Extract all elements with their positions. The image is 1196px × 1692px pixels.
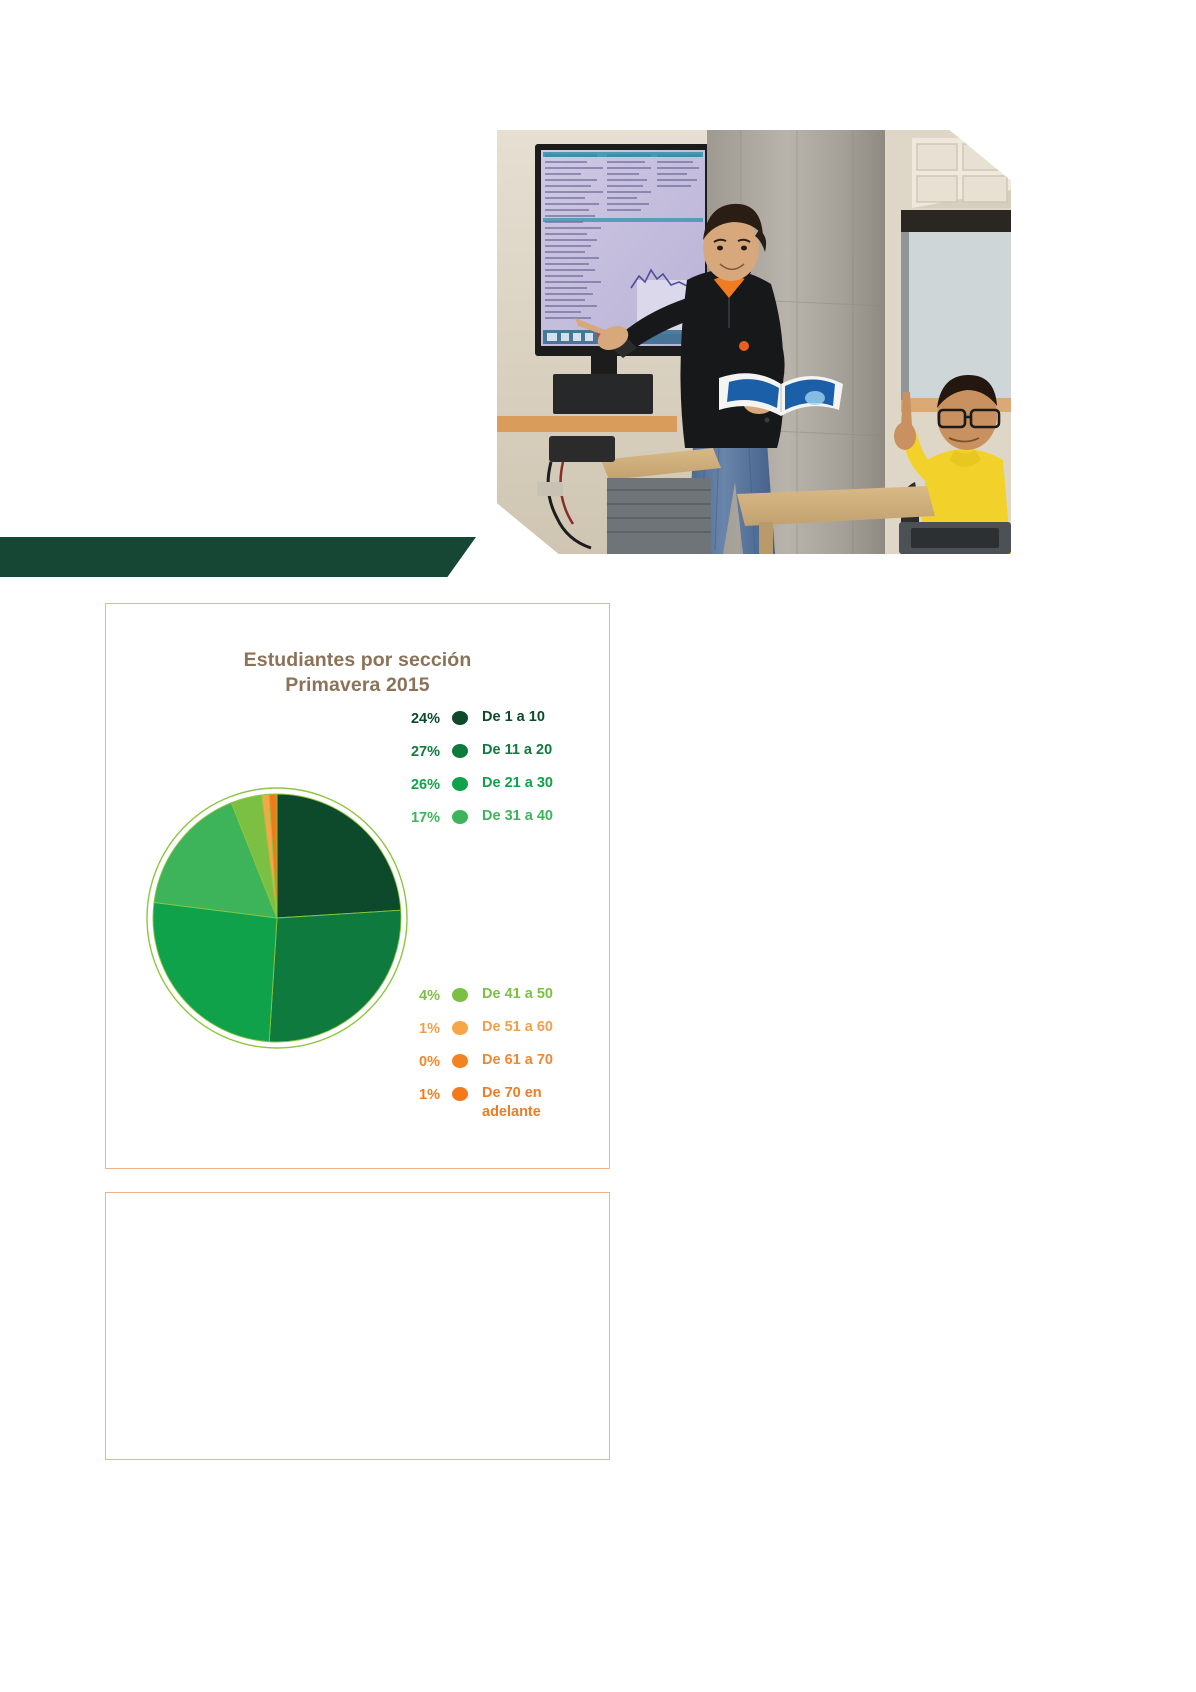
legend-percent: 1% (392, 1084, 440, 1105)
legend-percent: 24% (392, 708, 440, 729)
legend-label: De 41 a 50 (482, 985, 553, 1004)
chart-title-line1: Estudiantes por sección (106, 648, 609, 673)
legend-item[interactable]: 0% De 61 a 70 (392, 1051, 592, 1084)
legend-color-dot (452, 1054, 468, 1068)
legend-percent: 26% (392, 774, 440, 795)
notes-card-body (106, 1193, 609, 1459)
legend-item[interactable]: 1% De 70 en adelante (392, 1084, 592, 1130)
legend-label: De 70 en adelante (482, 1084, 564, 1122)
legend-color-dot (452, 711, 468, 725)
pie-slice[interactable] (269, 910, 401, 1042)
legend-item[interactable]: 4% De 41 a 50 (392, 985, 592, 1018)
legend-item[interactable]: 17% De 31 a 40 (392, 807, 592, 840)
section-banner (0, 537, 476, 577)
legend-label: De 21 a 30 (482, 774, 553, 793)
legend-top-group: 24% De 1 a 10 27% De 11 a 20 26% De 21 a… (392, 708, 592, 840)
photo-illustration (497, 130, 1011, 554)
legend-percent: 4% (392, 985, 440, 1006)
pie-slice[interactable] (153, 902, 277, 1041)
legend-color-dot (452, 1021, 468, 1035)
legend-color-dot (452, 988, 468, 1002)
legend-percent: 1% (392, 1018, 440, 1039)
legend-color-dot (452, 777, 468, 791)
pie-chart-svg (144, 782, 410, 1054)
legend-label: De 1 a 10 (482, 708, 545, 727)
legend-label: De 51 a 60 (482, 1018, 553, 1037)
page-root: Estudiantes por sección Primavera 2015 2… (0, 0, 1196, 1692)
legend-label: De 61 a 70 (482, 1051, 553, 1070)
chart-title-line2: Primavera 2015 (106, 673, 609, 698)
legend-color-dot (452, 744, 468, 758)
pie-slices (153, 794, 401, 1042)
chart-card: Estudiantes por sección Primavera 2015 2… (105, 603, 610, 1169)
legend-label: De 11 a 20 (482, 741, 552, 760)
legend-item[interactable]: 26% De 21 a 30 (392, 774, 592, 807)
notes-card (105, 1192, 610, 1460)
pie-chart (144, 782, 410, 1054)
chart-title: Estudiantes por sección Primavera 2015 (106, 648, 609, 698)
legend-percent: 0% (392, 1051, 440, 1072)
legend-color-dot (452, 1087, 468, 1101)
legend-item[interactable]: 1% De 51 a 60 (392, 1018, 592, 1051)
legend-percent: 27% (392, 741, 440, 762)
legend-percent: 17% (392, 807, 440, 828)
legend-item[interactable]: 24% De 1 a 10 (392, 708, 592, 741)
legend-label: De 31 a 40 (482, 807, 553, 826)
classroom-presentation-photo (497, 130, 1011, 554)
legend-item[interactable]: 27% De 11 a 20 (392, 741, 592, 774)
legend-bottom-group: 4% De 41 a 50 1% De 51 a 60 0% De 61 a 7… (392, 985, 592, 1130)
legend-color-dot (452, 810, 468, 824)
pie-slice[interactable] (277, 794, 401, 918)
